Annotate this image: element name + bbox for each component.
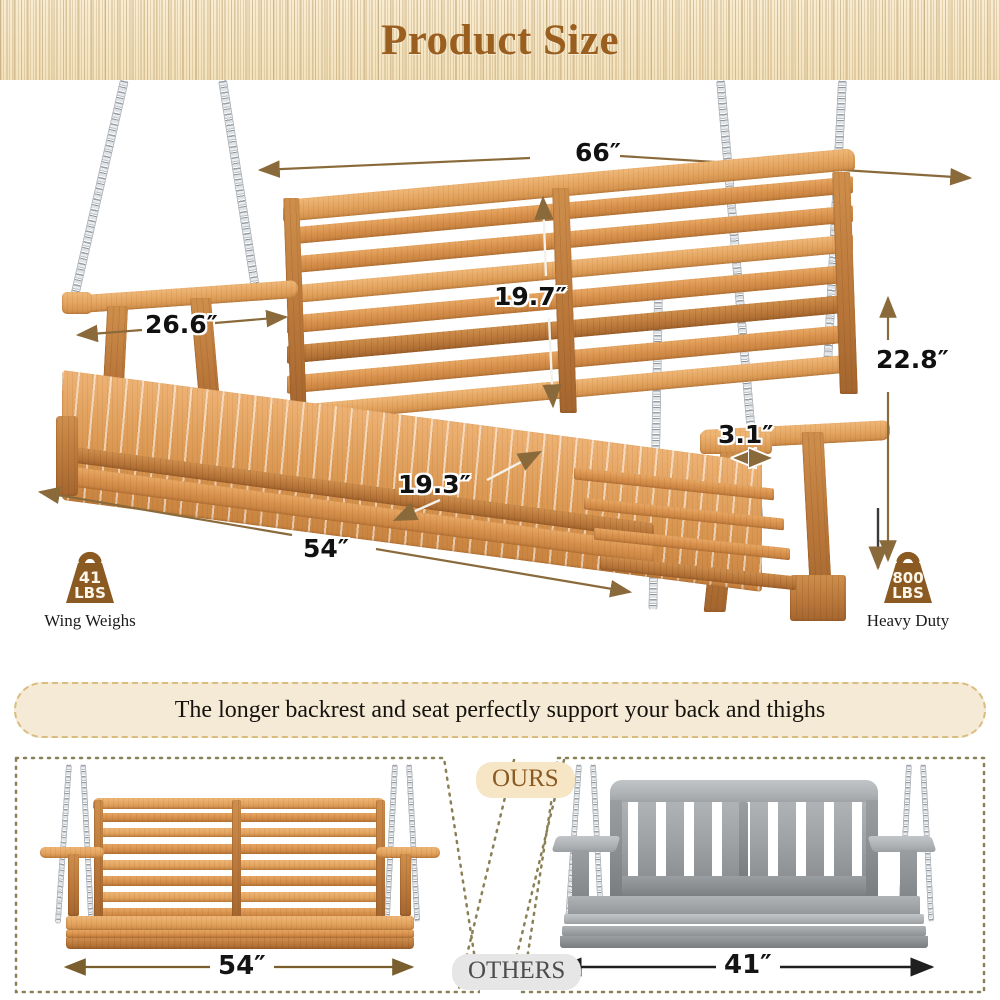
weight-icon: 800 LBS xyxy=(875,545,941,607)
badge-caption: Wing Weighs xyxy=(30,611,150,631)
comparison-section: 54″ xyxy=(0,756,1000,1000)
feature-caption-text: The longer backrest and seat perfectly s… xyxy=(175,697,825,724)
badge-heavy-duty: 800 LBS Heavy Duty xyxy=(848,545,968,631)
dimension-66-inch: 66″ xyxy=(575,138,621,167)
others-measure-41: 41″ xyxy=(716,950,780,980)
badge-caption: Heavy Duty xyxy=(848,611,968,631)
dimension-3-1-inch: 3.1″ xyxy=(718,420,773,449)
dimension-26-6-inch: 26.6″ xyxy=(145,310,218,339)
weight-unit: LBS xyxy=(74,584,106,602)
dimension-19-7-inch: 19.7″ xyxy=(494,282,567,311)
weight-icon: 41 LBS xyxy=(57,545,123,607)
dimension-22-8-inch: 22.8″ xyxy=(876,345,949,374)
product-size-infographic: Product Size xyxy=(0,0,1000,1000)
panel-ours: 54″ xyxy=(14,756,480,994)
header-banner: Product Size xyxy=(0,0,1000,80)
dimension-54-inch: 54″ xyxy=(303,534,349,563)
panel-others: 41″ xyxy=(520,756,986,994)
ours-measure-54: 54″ xyxy=(210,951,274,981)
hero-illustration: 66″ 26.6″ 19.7″ 3.1″ 22.8″ 19.3″ 54″ 41 … xyxy=(0,80,1000,670)
weight-unit: LBS xyxy=(892,584,924,602)
tag-others: OTHERS xyxy=(452,954,581,990)
dimension-19-3-inch: 19.3″ xyxy=(398,470,471,499)
badge-wing-weighs: 41 LBS Wing Weighs xyxy=(30,545,150,631)
tag-ours: OURS xyxy=(476,762,575,798)
page-title: Product Size xyxy=(0,0,1000,80)
feature-caption-banner: The longer backrest and seat perfectly s… xyxy=(14,682,986,738)
